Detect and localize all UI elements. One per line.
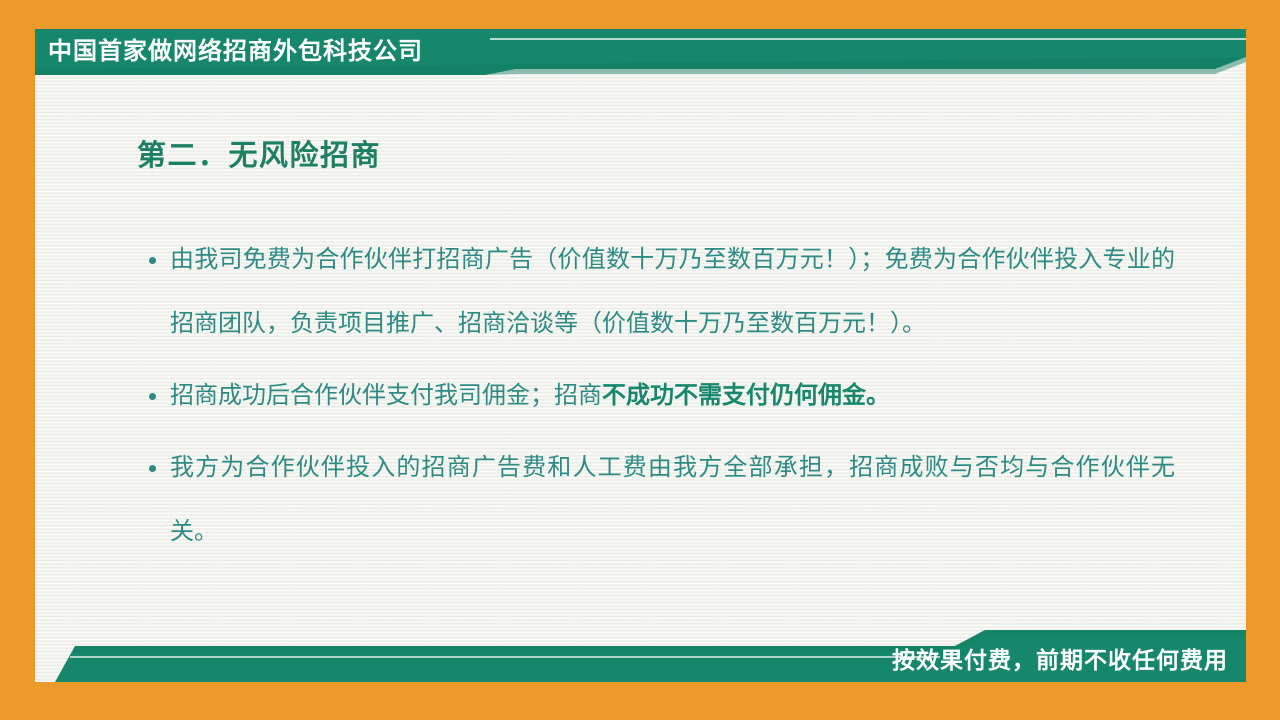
bullet-dot-icon (149, 465, 156, 472)
header-company-tagline: 中国首家做网络招商外包科技公司 (48, 36, 423, 68)
bullet-text-emphasis: 不成功不需支付仍何佣金。 (602, 382, 890, 409)
footer-slogan: 按效果付费，前期不收任何费用 (892, 645, 1228, 675)
bullet-dot-icon (149, 393, 156, 400)
list-item: 招商成功后合作伙伴支付我司佣金；招商不成功不需支付仍何佣金。 (140, 364, 1175, 428)
list-item: 由我司免费为合作伙伴打招商广告（价值数十万乃至数百万元！）；免费为合作伙伴投入专… (140, 228, 1175, 356)
bullet-text: 我方为合作伙伴投入的招商广告费和人工费由我方全部承担，招商成败与否均与合作伙伴无… (170, 455, 1175, 545)
bullet-list: 由我司免费为合作伙伴打招商广告（价值数十万乃至数百万元！）；免费为合作伙伴投入专… (140, 228, 1175, 572)
bullet-text: 由我司免费为合作伙伴打招商广告（价值数十万乃至数百万元！）；免费为合作伙伴投入专… (170, 247, 1175, 337)
slide-canvas: 中国首家做网络招商外包科技公司 第二．无风险招商 由我司免费为合作伙伴打招商广告… (0, 0, 1280, 720)
bullet-text: 招商成功后合作伙伴支付我司佣金；招商 (170, 383, 602, 409)
bullet-dot-icon (149, 257, 156, 264)
page-title: 第二．无风险招商 (137, 136, 381, 176)
list-item: 我方为合作伙伴投入的招商广告费和人工费由我方全部承担，招商成败与否均与合作伙伴无… (140, 436, 1175, 564)
